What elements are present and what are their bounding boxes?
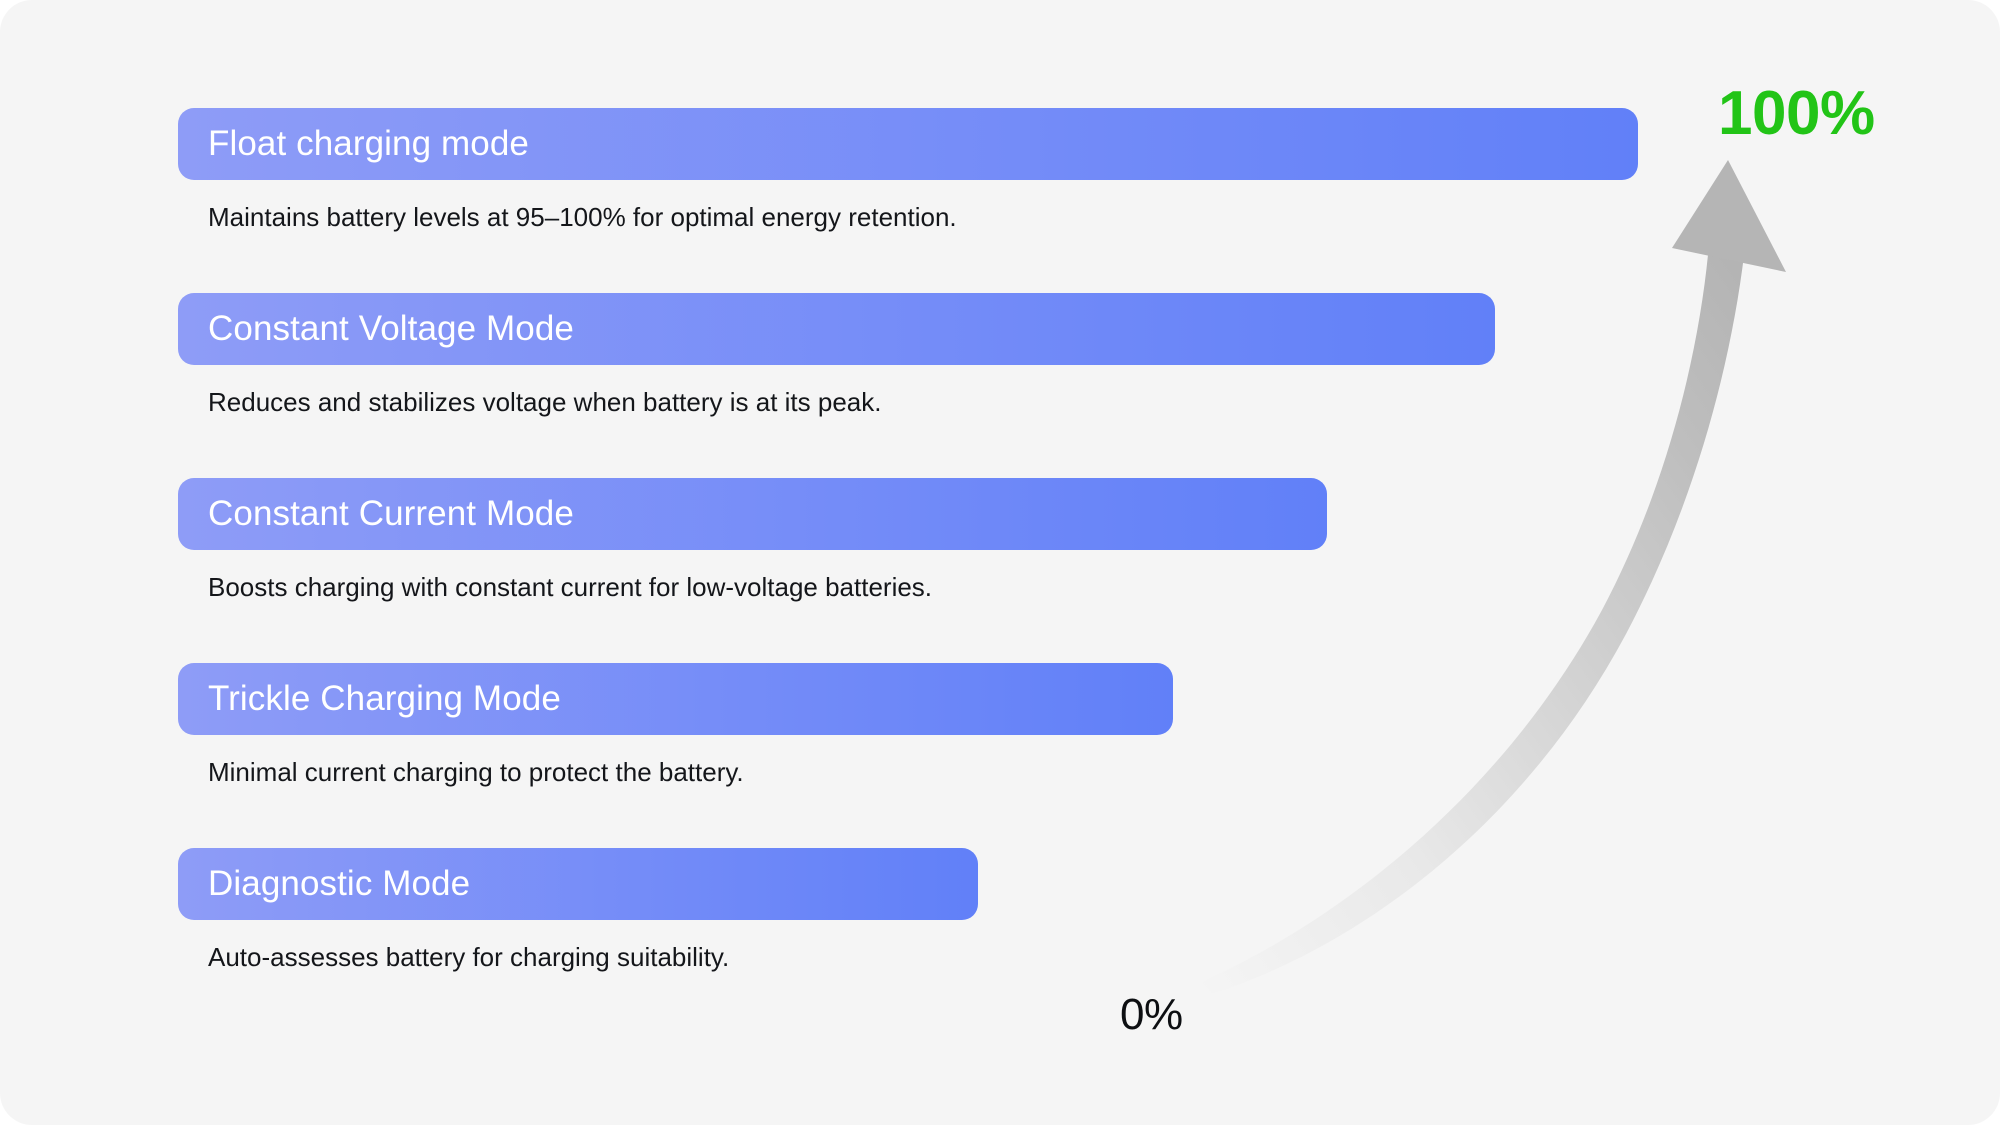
charging-mode-row: Trickle Charging Mode Minimal current ch… [178,663,1878,788]
infographic-canvas: Float charging mode Maintains battery le… [0,0,2000,1125]
charging-mode-bar[interactable]: Constant Current Mode [178,478,1327,550]
charging-mode-row: Float charging mode Maintains battery le… [178,108,1878,233]
charging-mode-label: Diagnostic Mode [178,864,470,904]
charging-mode-row: Constant Voltage Mode Reduces and stabil… [178,293,1878,418]
charging-mode-bar[interactable]: Float charging mode [178,108,1638,180]
charging-mode-row: Diagnostic Mode Auto-assesses battery fo… [178,848,1878,973]
charging-mode-label: Constant Voltage Mode [178,309,574,349]
charging-mode-description: Auto-assesses battery for charging suita… [178,942,1878,973]
charging-mode-bar[interactable]: Diagnostic Mode [178,848,978,920]
row-spacer [178,788,1878,848]
charging-mode-description: Reduces and stabilizes voltage when batt… [178,387,1878,418]
row-spacer [178,233,1878,293]
percent-100-label: 100% [1718,78,1875,149]
row-spacer [178,603,1878,663]
charging-mode-description: Minimal current charging to protect the … [178,757,1878,788]
charging-mode-bar[interactable]: Constant Voltage Mode [178,293,1495,365]
charging-mode-bar[interactable]: Trickle Charging Mode [178,663,1173,735]
charging-mode-label: Trickle Charging Mode [178,679,561,719]
charging-mode-description: Boosts charging with constant current fo… [178,572,1878,603]
charging-mode-label: Constant Current Mode [178,494,574,534]
charging-mode-description: Maintains battery levels at 95–100% for … [178,202,1878,233]
charging-mode-row: Constant Current Mode Boosts charging wi… [178,478,1878,603]
charging-mode-bar-list: Float charging mode Maintains battery le… [178,108,1878,973]
percent-0-label: 0% [1120,990,1183,1040]
row-spacer [178,418,1878,478]
charging-mode-label: Float charging mode [178,124,529,164]
